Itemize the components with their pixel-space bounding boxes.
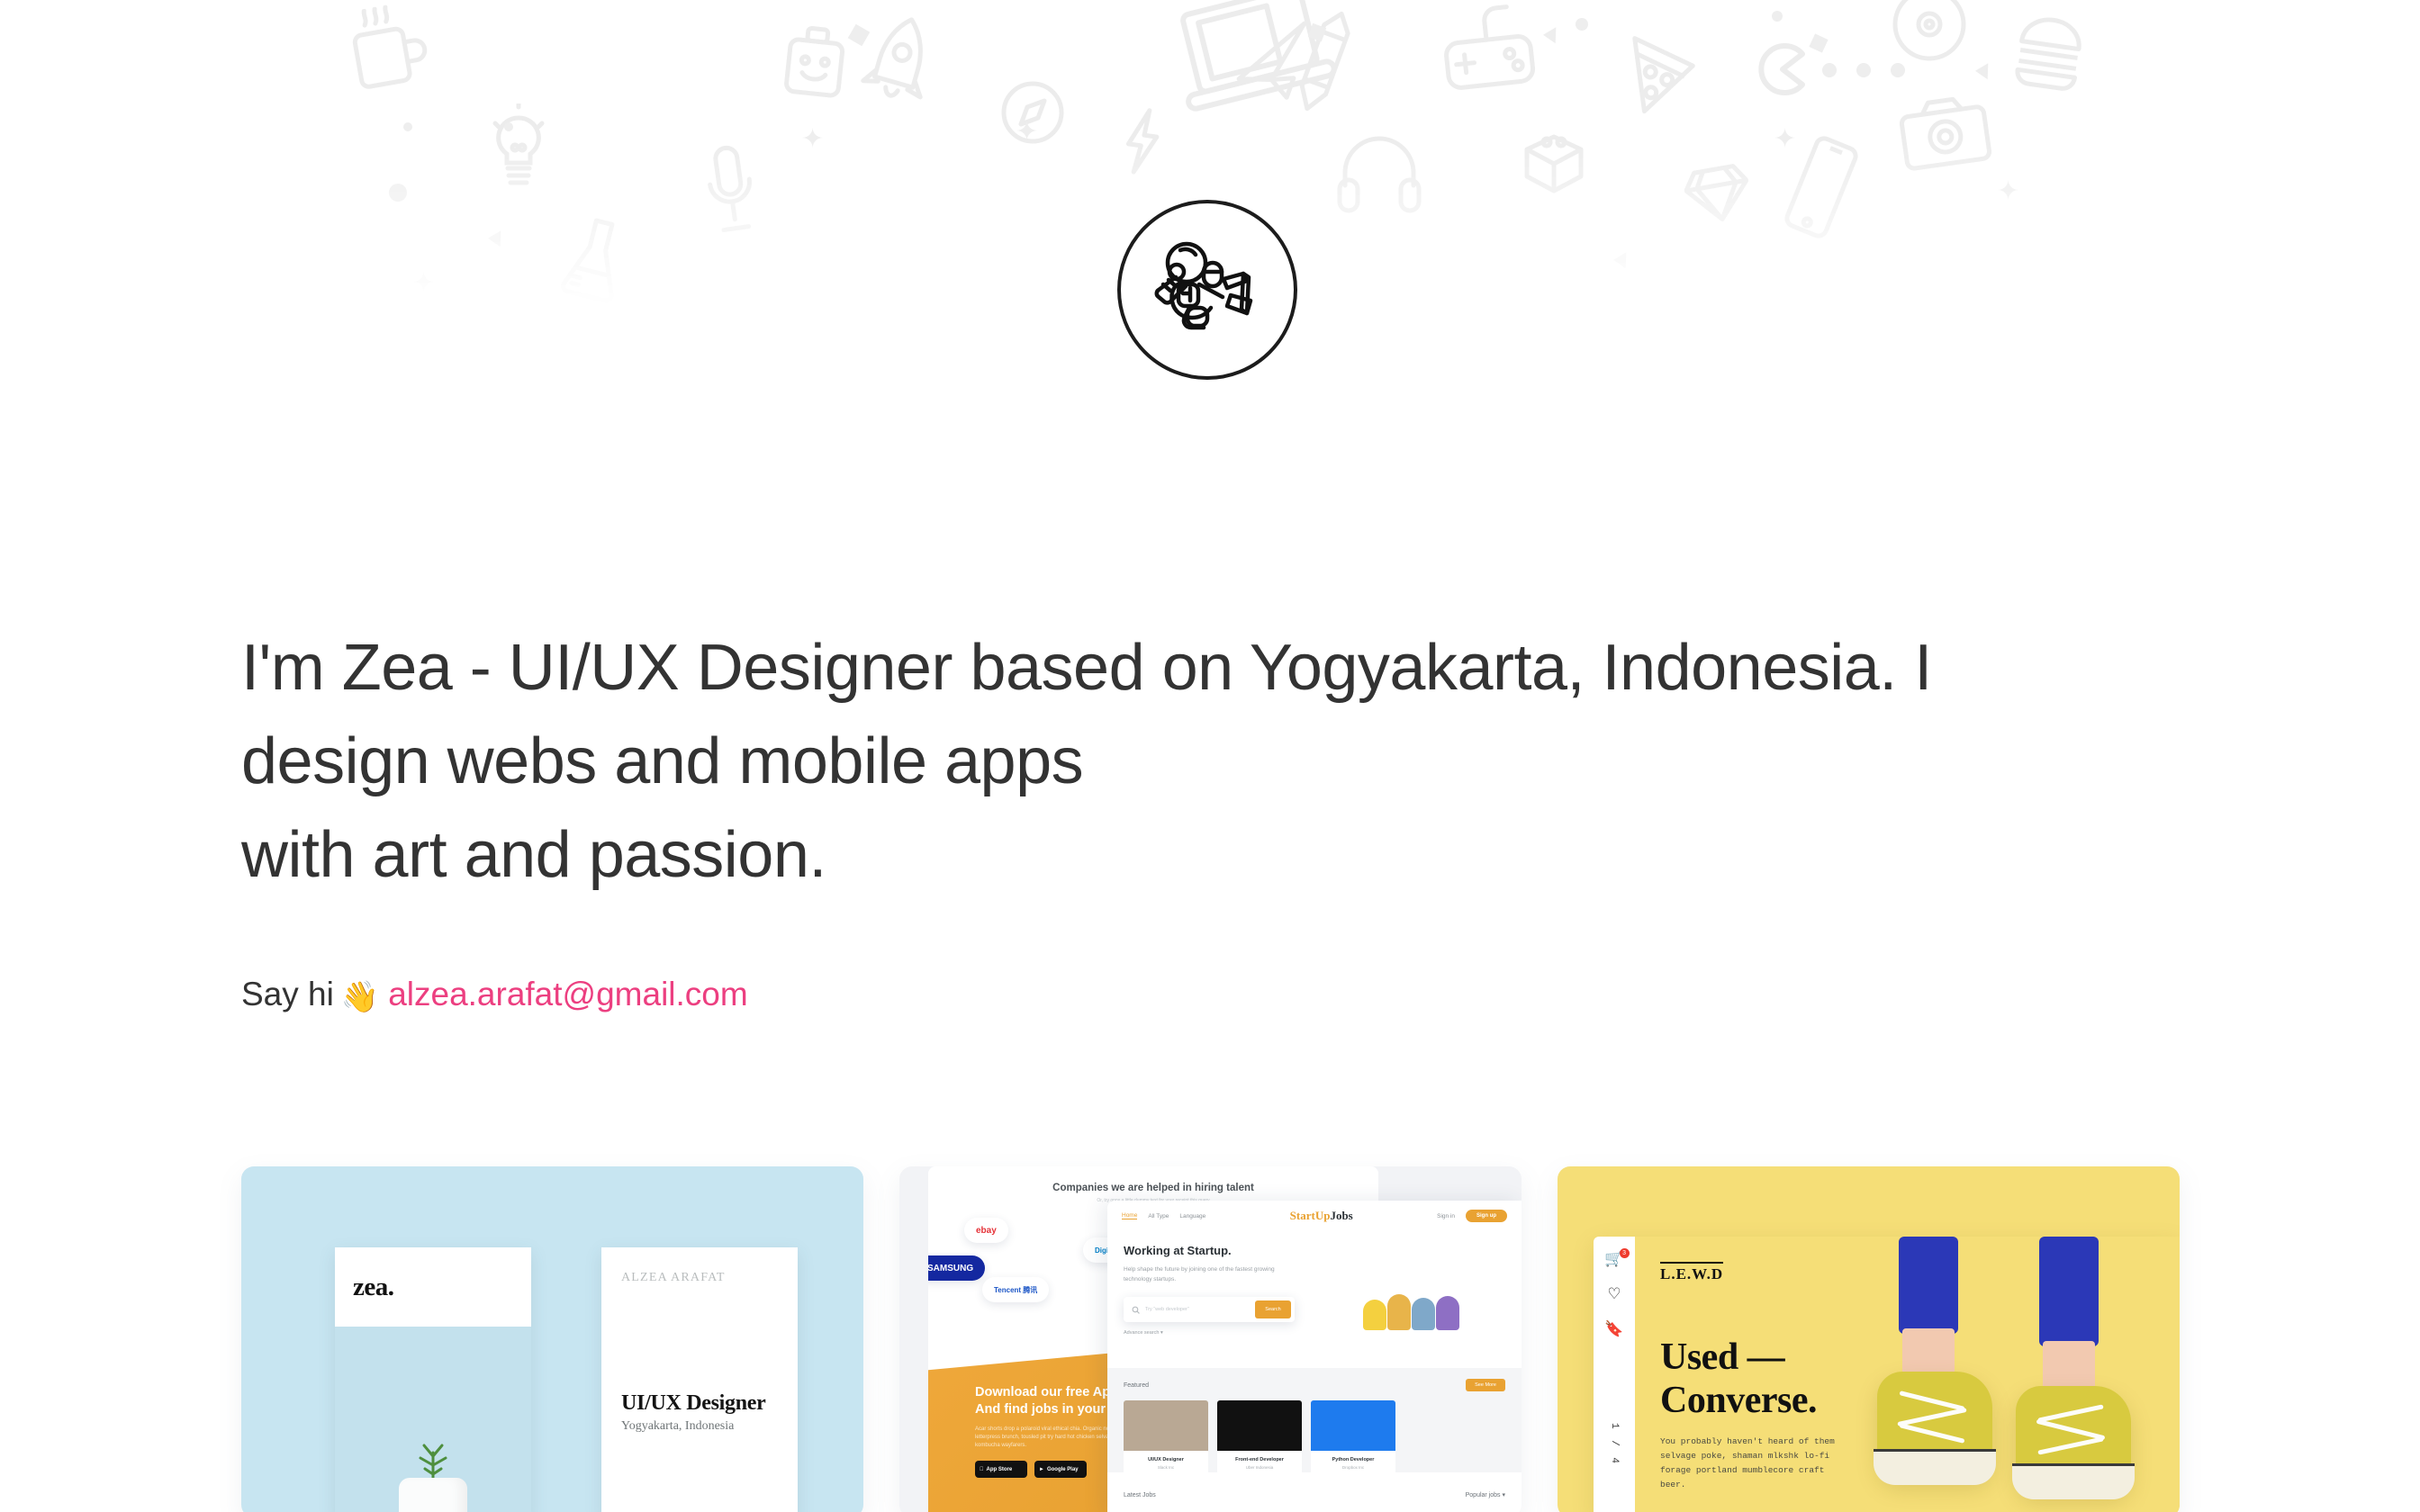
- hero-body: Help shape the future by joining one of …: [1124, 1264, 1286, 1284]
- laptop-icon: [1159, 0, 1344, 126]
- advanced-search-toggle[interactable]: Advance search ▾: [1124, 1330, 1317, 1336]
- page-headline: I'm Zea - UI/UX Designer based on Yogyak…: [241, 621, 2087, 902]
- heart-icon[interactable]: ♡: [1607, 1286, 1621, 1301]
- star-doodle-icon: ✦: [412, 270, 435, 297]
- team-avatar: [1363, 1300, 1386, 1330]
- dot-doodle-icon: [389, 184, 407, 202]
- lego-brick-icon: [1522, 122, 1586, 198]
- diamond-icon: [1680, 157, 1755, 229]
- headphones-icon: [1336, 133, 1422, 216]
- gamepad-icon: [1436, 1, 1540, 97]
- smartphone-icon: [1776, 130, 1865, 244]
- waving-hand-icon: 👋: [341, 976, 379, 1018]
- shop-side-rail: 🛒 3 ♡ 🔖 1 / 4: [1594, 1237, 1635, 1512]
- flask-icon: [555, 210, 634, 308]
- project-card-lewd-shop[interactable]: 🛒 3 ♡ 🔖 1 / 4 L.E.W.D Used — Converse. Y…: [1558, 1166, 2180, 1512]
- featured-header: Featured See More: [1124, 1379, 1505, 1391]
- play-icon: ►: [1039, 1467, 1044, 1472]
- team-avatar: [1387, 1294, 1411, 1330]
- team-illustration: [1317, 1244, 1505, 1336]
- zea-logo-text: zea.: [353, 1273, 394, 1302]
- portfolio-page: ✦ ✦ ✦ ✦ ✦: [0, 0, 2420, 1512]
- astronaut-logo-icon: [1117, 200, 1297, 380]
- lightbulb-icon: [486, 103, 551, 190]
- plant-photo: [335, 1327, 531, 1512]
- star-doodle-icon: ✦: [1016, 119, 1038, 146]
- microphone-icon: [692, 139, 771, 246]
- job-title: Front-end Developer: [1217, 1457, 1302, 1462]
- team-avatar: [1412, 1298, 1435, 1330]
- latest-jobs-bar: Latest Jobs Popular jobs ▾: [1107, 1472, 1522, 1512]
- site-logo[interactable]: [1117, 200, 1297, 380]
- camera-icon: [1893, 87, 1997, 175]
- job-company: Slack Inc: [1124, 1465, 1208, 1470]
- succulent-icon: [402, 1435, 465, 1481]
- square-doodle-icon: [1809, 33, 1828, 52]
- product-photo: [1847, 1237, 2180, 1512]
- email-link[interactable]: alzea.arafat@gmail.com: [388, 974, 748, 1015]
- headline-line-1: I'm Zea - UI/UX Designer based on Yogyak…: [241, 621, 2087, 715]
- company-logo-tencent: Tencent 腾讯: [982, 1277, 1049, 1302]
- jobs-navbar: Home All Type Language StartUpJobs Sign …: [1107, 1201, 1522, 1231]
- triangle-doodle-icon: [488, 230, 501, 247]
- business-card-role: UI/UX Designer: [621, 1391, 778, 1416]
- popular-jobs-filter[interactable]: Popular jobs ▾: [1466, 1491, 1505, 1498]
- nav-language[interactable]: Language: [1179, 1213, 1205, 1219]
- business-card-name: ALZEA ARAFAT: [621, 1271, 778, 1285]
- bookmark-icon[interactable]: 🔖: [1604, 1321, 1623, 1336]
- dot-doodle-icon: [403, 122, 412, 131]
- star-doodle-icon: ✦: [1997, 178, 2019, 205]
- star-doodle-icon: ✦: [1774, 126, 1796, 153]
- job-title: Python Developer: [1311, 1457, 1395, 1462]
- product-description: You probably haven't heard of them selva…: [1660, 1435, 1854, 1492]
- team-avatar: [1436, 1296, 1459, 1330]
- companies-heading: Companies we are helped in hiring talent: [928, 1183, 1378, 1193]
- compass-icon: [998, 77, 1068, 148]
- search-icon: [1132, 1306, 1140, 1314]
- nav-home[interactable]: Home: [1122, 1212, 1137, 1219]
- say-hi-label: Say hi: [241, 974, 334, 1015]
- search-button[interactable]: Search: [1255, 1300, 1291, 1318]
- latest-jobs-label: Latest Jobs: [1124, 1492, 1156, 1498]
- lego-head-icon: [778, 22, 853, 105]
- pencil-icon: [1285, 3, 1364, 120]
- jobs-brand-logo: StartUpJobs: [1290, 1209, 1353, 1223]
- plant-pot: [399, 1478, 467, 1512]
- dot-doodle-icon: [1772, 11, 1783, 22]
- project-card-branding[interactable]: zea. ALZEA ARAFAT UI/UX Designer Yogyaka…: [241, 1166, 863, 1512]
- cd-icon: [1889, 0, 1970, 65]
- headline-line-3: with art and passion.: [241, 808, 2087, 902]
- burger-icon: [2009, 10, 2088, 96]
- star-doodle-icon: ✦: [801, 126, 824, 153]
- company-logo-samsung: SAMSUNG: [928, 1255, 985, 1281]
- business-card-back: ALZEA ARAFAT UI/UX Designer Yogyakarta, …: [601, 1247, 798, 1512]
- pacman-pellet-icon: [1891, 63, 1905, 77]
- job-thumbnail: [1217, 1400, 1302, 1451]
- featured-section: Featured See More UI/UX Designer Slack I…: [1107, 1368, 1522, 1472]
- job-company: Uber Indonesia: [1217, 1465, 1302, 1470]
- jobs-home-page: Home All Type Language StartUpJobs Sign …: [1107, 1201, 1522, 1512]
- slide-pagination: 1 / 4: [1609, 1423, 1620, 1466]
- paper-plane-icon: [1224, 17, 1329, 116]
- coffee-mug-icon: [342, 0, 433, 98]
- pacman-icon: [1757, 43, 1808, 95]
- pacman-pellet-icon: [1822, 63, 1837, 77]
- business-card-front-top: zea.: [335, 1247, 531, 1327]
- triangle-doodle-icon: [1543, 27, 1557, 43]
- company-logo-ebay: ebay: [964, 1218, 1008, 1243]
- pacman-pellet-icon: [1856, 63, 1871, 77]
- dot-doodle-icon: [1576, 18, 1588, 31]
- contact-line: Say hi 👋 alzea.arafat@gmail.com: [241, 974, 748, 1016]
- job-title: UI/UX Designer: [1124, 1457, 1208, 1462]
- triangle-doodle-icon: [1975, 63, 1989, 79]
- business-card-location: Yogyakarta, Indonesia: [621, 1419, 778, 1434]
- lightning-icon: [1117, 103, 1168, 179]
- project-cards-row: zea. ALZEA ARAFAT UI/UX Designer Yogyaka…: [241, 1166, 2179, 1512]
- headline-line-2: design webs and mobile apps: [241, 715, 2087, 808]
- featured-label: Featured: [1124, 1382, 1149, 1389]
- rocket-icon: [853, 5, 944, 119]
- triangle-doodle-icon: [1613, 252, 1627, 268]
- cart-count-badge: 3: [1620, 1248, 1630, 1258]
- dot-doodle-icon: [504, 122, 513, 131]
- app-store-badge[interactable]:  App Store: [975, 1461, 1027, 1478]
- project-card-startupjobs[interactable]: Companies we are helped in hiring talent…: [899, 1166, 1522, 1512]
- job-company: Dropbox Inc: [1311, 1465, 1395, 1470]
- see-more-button[interactable]: See More: [1466, 1379, 1505, 1391]
- job-thumbnail: [1124, 1400, 1208, 1451]
- google-play-badge[interactable]: ► Google Play: [1034, 1461, 1087, 1478]
- search-placeholder: Try “web developer”: [1145, 1307, 1250, 1312]
- cart-icon[interactable]: 🛒 3: [1604, 1251, 1623, 1266]
- nav-signup-button[interactable]: Sign up: [1466, 1210, 1507, 1222]
- nav-all-type[interactable]: All Type: [1148, 1213, 1169, 1219]
- job-thumbnail: [1311, 1400, 1395, 1451]
- pizza-icon: [1612, 28, 1703, 126]
- hero-title: Working at Startup.: [1124, 1244, 1317, 1257]
- nav-signin[interactable]: Sign in: [1437, 1213, 1455, 1219]
- apple-icon: : [980, 1467, 984, 1472]
- jobs-hero: Working at Startup. Help shape the futur…: [1107, 1231, 1522, 1336]
- shop-browser-window: 🛒 3 ♡ 🔖 1 / 4 L.E.W.D Used — Converse. Y…: [1594, 1237, 2180, 1512]
- business-card-front: zea.: [335, 1247, 531, 1512]
- square-doodle-icon: [1308, 23, 1327, 42]
- square-doodle-icon: [848, 24, 871, 47]
- shop-brand-logo: L.E.W.D: [1660, 1262, 1723, 1283]
- job-search-bar[interactable]: Try “web developer” Search: [1124, 1297, 1295, 1322]
